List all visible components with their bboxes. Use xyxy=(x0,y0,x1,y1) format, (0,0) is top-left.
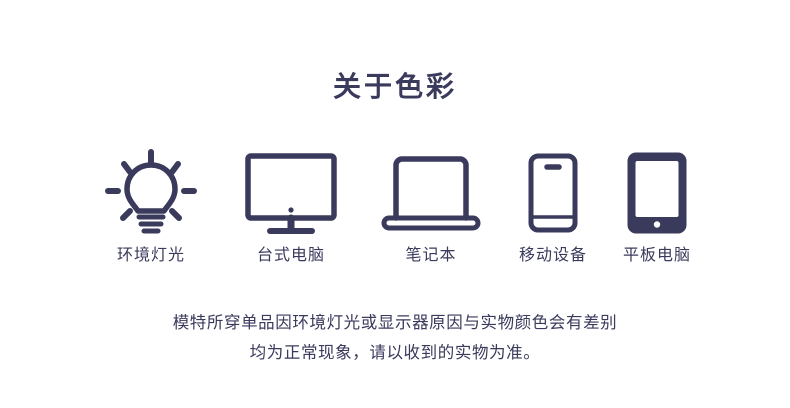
device-icon-row: 环境灯光 台式电脑 笔记本 xyxy=(0,148,790,273)
device-item-laptop: 笔记本 xyxy=(361,148,501,266)
desktop-monitor-icon xyxy=(241,148,341,238)
device-item-desktop: 台式电脑 xyxy=(221,148,361,266)
device-label-laptop: 笔记本 xyxy=(405,246,456,266)
color-disclaimer-note: 模特所穿单品因环境灯光或显示器原因与实物颜色会有差别 均为正常现象，请以收到的实… xyxy=(0,308,790,368)
page-title: 关于色彩 xyxy=(0,68,790,106)
device-item-tablet: 平板电脑 xyxy=(605,148,709,266)
lightbulb-icon xyxy=(99,148,203,238)
device-item-mobile: 移动设备 xyxy=(501,148,605,266)
device-label-desktop: 台式电脑 xyxy=(257,246,325,266)
device-label-mobile: 移动设备 xyxy=(519,246,587,266)
laptop-icon xyxy=(379,148,483,238)
disclaimer-line-1: 模特所穿单品因环境灯光或显示器原因与实物颜色会有差别 xyxy=(0,308,790,338)
mobile-phone-icon xyxy=(518,148,588,238)
disclaimer-line-2: 均为正常现象，请以收到的实物为准。 xyxy=(0,338,790,368)
tablet-icon xyxy=(619,148,695,238)
about-color-section: 关于色彩 xyxy=(0,0,790,408)
device-label-tablet: 平板电脑 xyxy=(623,246,691,266)
device-item-ambient-light: 环境灯光 xyxy=(81,148,221,266)
device-label-ambient-light: 环境灯光 xyxy=(117,246,185,266)
